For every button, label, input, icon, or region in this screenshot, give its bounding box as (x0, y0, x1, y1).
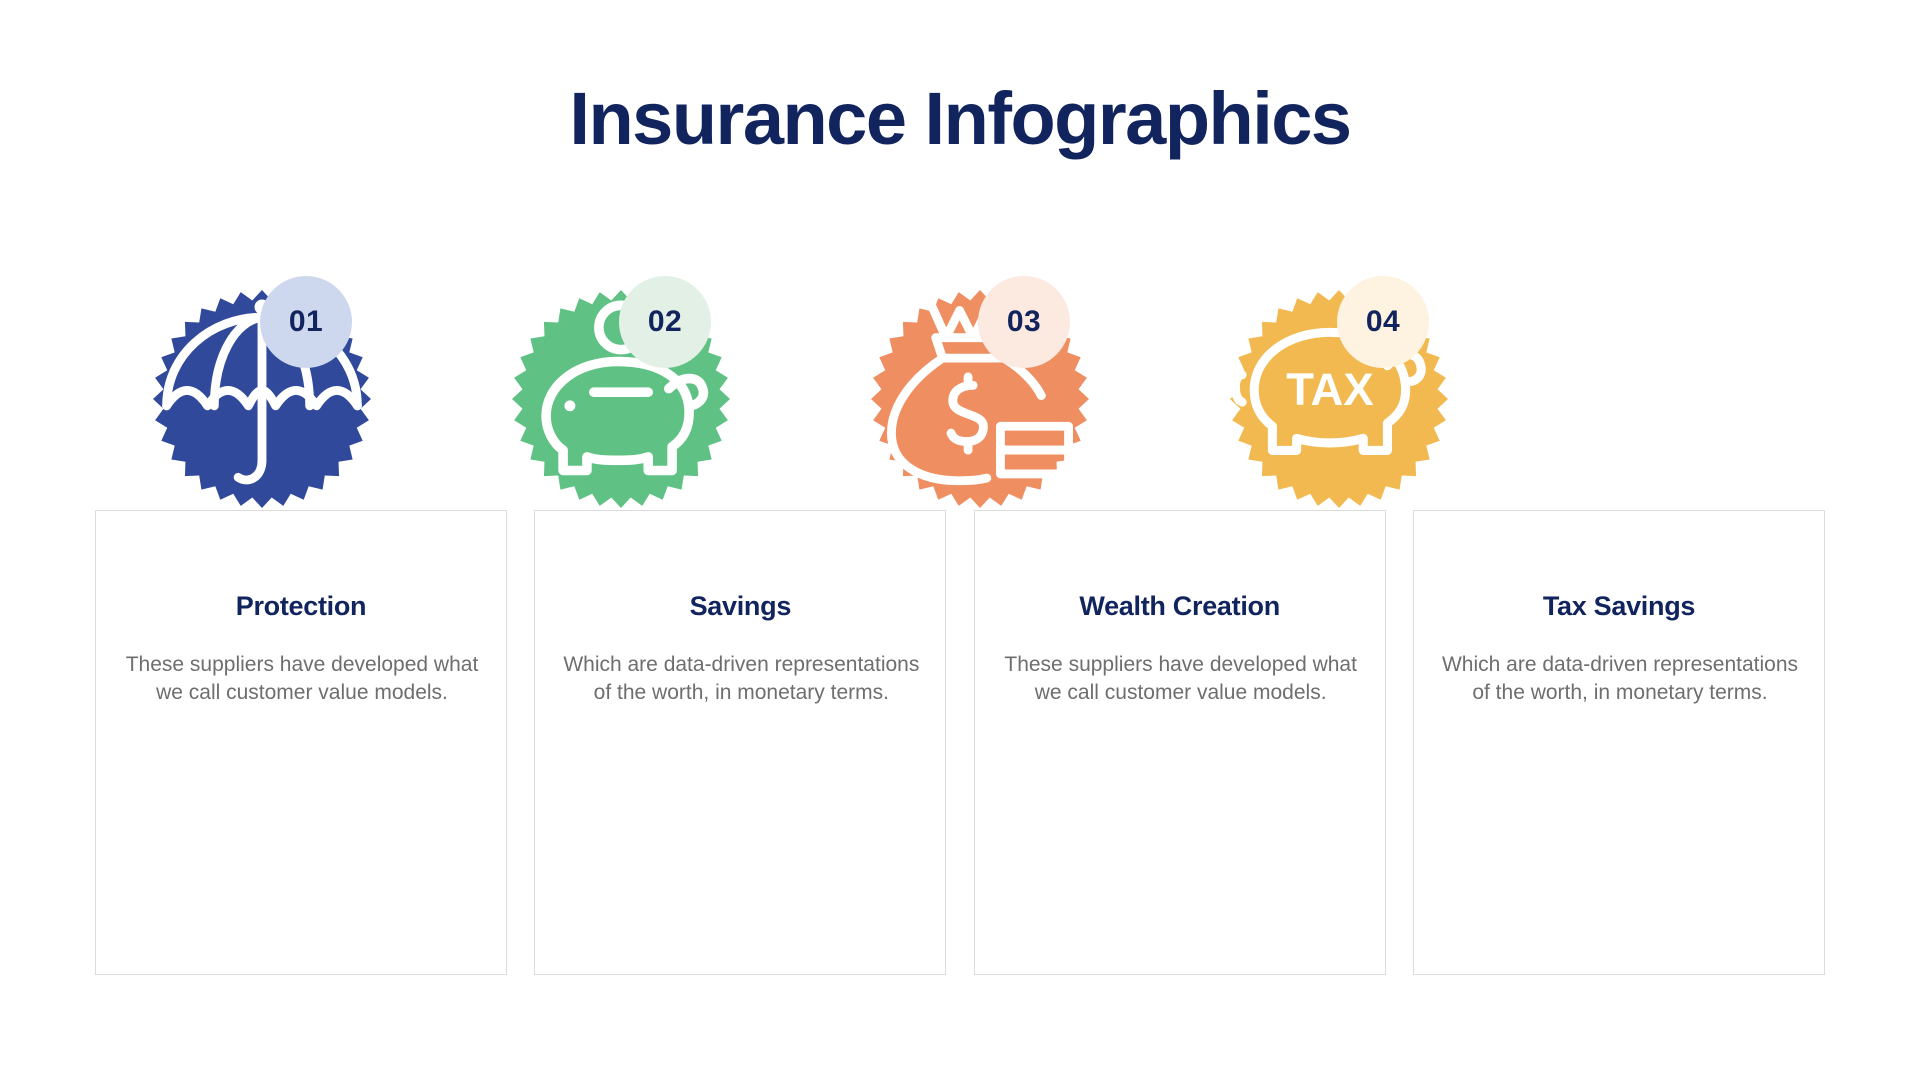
card-title: Savings (535, 591, 945, 622)
card-tax-savings[interactable]: Tax Savings Which are data-driven repres… (1413, 510, 1825, 975)
card-savings[interactable]: Savings Which are data-driven representa… (534, 510, 946, 975)
card-protection[interactable]: Protection These suppliers have develope… (95, 510, 507, 975)
card-body: These suppliers have developed what we c… (124, 651, 480, 708)
number-bubble-02: 02 (619, 276, 711, 368)
number-bubble-01: 01 (260, 276, 352, 368)
cards-row: Protection These suppliers have develope… (95, 510, 1825, 975)
card-title: Tax Savings (1414, 591, 1824, 622)
card-body: These suppliers have developed what we c… (1003, 651, 1359, 708)
card-body: Which are data-driven representations of… (563, 651, 919, 708)
card-wealth-creation[interactable]: Wealth Creation These suppliers have dev… (974, 510, 1386, 975)
page-title: Insurance Infographics (0, 78, 1920, 159)
number-bubble-04: 04 (1337, 276, 1429, 368)
number-bubble-03: 03 (978, 276, 1070, 368)
card-title: Wealth Creation (975, 591, 1385, 622)
card-title: Protection (96, 591, 506, 622)
card-body: Which are data-driven representations of… (1442, 651, 1798, 708)
infographic-slide: Insurance Infographics Protection These … (0, 0, 1920, 1080)
